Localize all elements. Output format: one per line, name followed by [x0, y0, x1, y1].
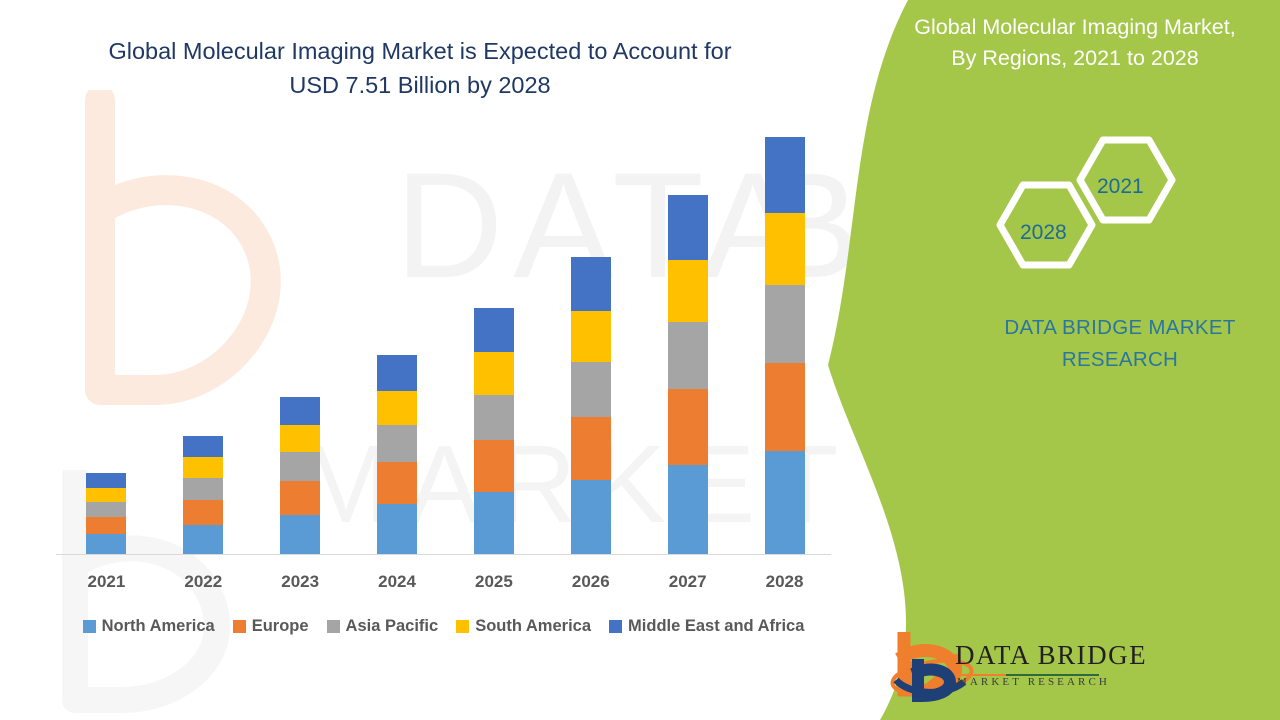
x-axis-label: 2027 — [640, 572, 736, 592]
hexagon-label-start: 2021 — [1097, 175, 1144, 199]
legend-item[interactable]: Europe — [233, 617, 309, 636]
bar-segment[interactable] — [668, 389, 708, 465]
bar-segment[interactable] — [280, 515, 320, 554]
bar-segment[interactable] — [183, 457, 223, 478]
logo-name-sub: MARKET RESEARCH — [957, 676, 1110, 688]
brand-name-text: DATA BRIDGE MARKET RESEARCH — [960, 312, 1280, 376]
legend-swatch — [456, 620, 469, 633]
x-axis-labels: 20212022202320242025202620272028 — [56, 572, 831, 596]
x-axis-line — [56, 554, 831, 555]
bar-segment[interactable] — [765, 285, 805, 363]
bar-segment[interactable] — [86, 502, 126, 517]
bar-segment[interactable] — [474, 308, 514, 352]
bar-group[interactable] — [183, 436, 223, 554]
bar-group[interactable] — [86, 473, 126, 554]
legend-label: South America — [475, 617, 591, 636]
bar-segment[interactable] — [474, 395, 514, 441]
bar-segment[interactable] — [571, 362, 611, 417]
bar-segment[interactable] — [280, 481, 320, 515]
bar-group[interactable] — [280, 397, 320, 554]
hexagon-label-end: 2028 — [1020, 221, 1067, 245]
chart-plot-area — [56, 120, 831, 555]
bar-segment[interactable] — [183, 500, 223, 525]
bar-group[interactable] — [668, 195, 708, 554]
bar-segment[interactable] — [668, 465, 708, 554]
bar-segment[interactable] — [474, 440, 514, 492]
bar-segment[interactable] — [377, 355, 417, 391]
legend-swatch — [609, 620, 622, 633]
bar-segment[interactable] — [377, 462, 417, 504]
bar-segment[interactable] — [474, 492, 514, 554]
bar-segment[interactable] — [377, 425, 417, 462]
bar-segment[interactable] — [571, 311, 611, 362]
x-axis-label: 2022 — [155, 572, 251, 592]
bar-segment[interactable] — [183, 478, 223, 500]
bar-segment[interactable] — [765, 451, 805, 554]
bar-segment[interactable] — [377, 504, 417, 554]
legend-item[interactable]: South America — [456, 617, 591, 636]
bar-segment[interactable] — [86, 488, 126, 502]
x-axis-label: 2023 — [252, 572, 348, 592]
legend-swatch — [83, 620, 96, 633]
bar-segment[interactable] — [765, 363, 805, 451]
legend-label: Europe — [252, 617, 309, 636]
bar-segment[interactable] — [280, 425, 320, 452]
bar-segment[interactable] — [668, 195, 708, 260]
bar-segment[interactable] — [280, 397, 320, 425]
bar-group[interactable] — [765, 137, 805, 554]
legend-item[interactable]: Middle East and Africa — [609, 617, 804, 636]
bar-segment[interactable] — [571, 480, 611, 554]
bar-segment[interactable] — [765, 213, 805, 285]
bar-group[interactable] — [474, 308, 514, 554]
x-axis-label: 2025 — [446, 572, 542, 592]
bar-segment[interactable] — [668, 260, 708, 322]
legend-item[interactable]: Asia Pacific — [327, 617, 439, 636]
bar-group[interactable] — [377, 355, 417, 554]
bar-segment[interactable] — [765, 137, 805, 213]
legend-item[interactable]: North America — [83, 617, 215, 636]
x-axis-label: 2024 — [349, 572, 445, 592]
x-axis-label: 2028 — [737, 572, 833, 592]
x-axis-label: 2026 — [543, 572, 639, 592]
bar-segment[interactable] — [377, 391, 417, 425]
bar-segment[interactable] — [571, 417, 611, 480]
panel-title: Global Molecular Imaging Market, By Regi… — [880, 12, 1270, 74]
bar-segment[interactable] — [474, 352, 514, 394]
x-axis-label: 2021 — [58, 572, 154, 592]
bar-segment[interactable] — [668, 322, 708, 389]
bar-segment[interactable] — [86, 534, 126, 554]
hexagon-decoration — [975, 135, 1205, 270]
logo-name-main: DATA BRIDGE — [955, 640, 1147, 671]
bar-segment[interactable] — [280, 452, 320, 481]
bar-segment[interactable] — [86, 473, 126, 488]
bar-segment[interactable] — [183, 436, 223, 458]
legend-swatch — [233, 620, 246, 633]
bar-group[interactable] — [571, 257, 611, 554]
legend-label: North America — [102, 617, 215, 636]
legend-swatch — [327, 620, 340, 633]
bar-segment[interactable] — [571, 257, 611, 311]
infographic-page: DATA BRIDGE MARKET RESEARCH Global Molec… — [0, 0, 1280, 720]
chart-legend: North AmericaEuropeAsia PacificSouth Ame… — [56, 617, 831, 636]
bar-segment[interactable] — [86, 517, 126, 534]
chart-title: Global Molecular Imaging Market is Expec… — [60, 34, 780, 102]
legend-label: Middle East and Africa — [628, 617, 804, 636]
legend-label: Asia Pacific — [346, 617, 439, 636]
bar-segment[interactable] — [183, 525, 223, 554]
